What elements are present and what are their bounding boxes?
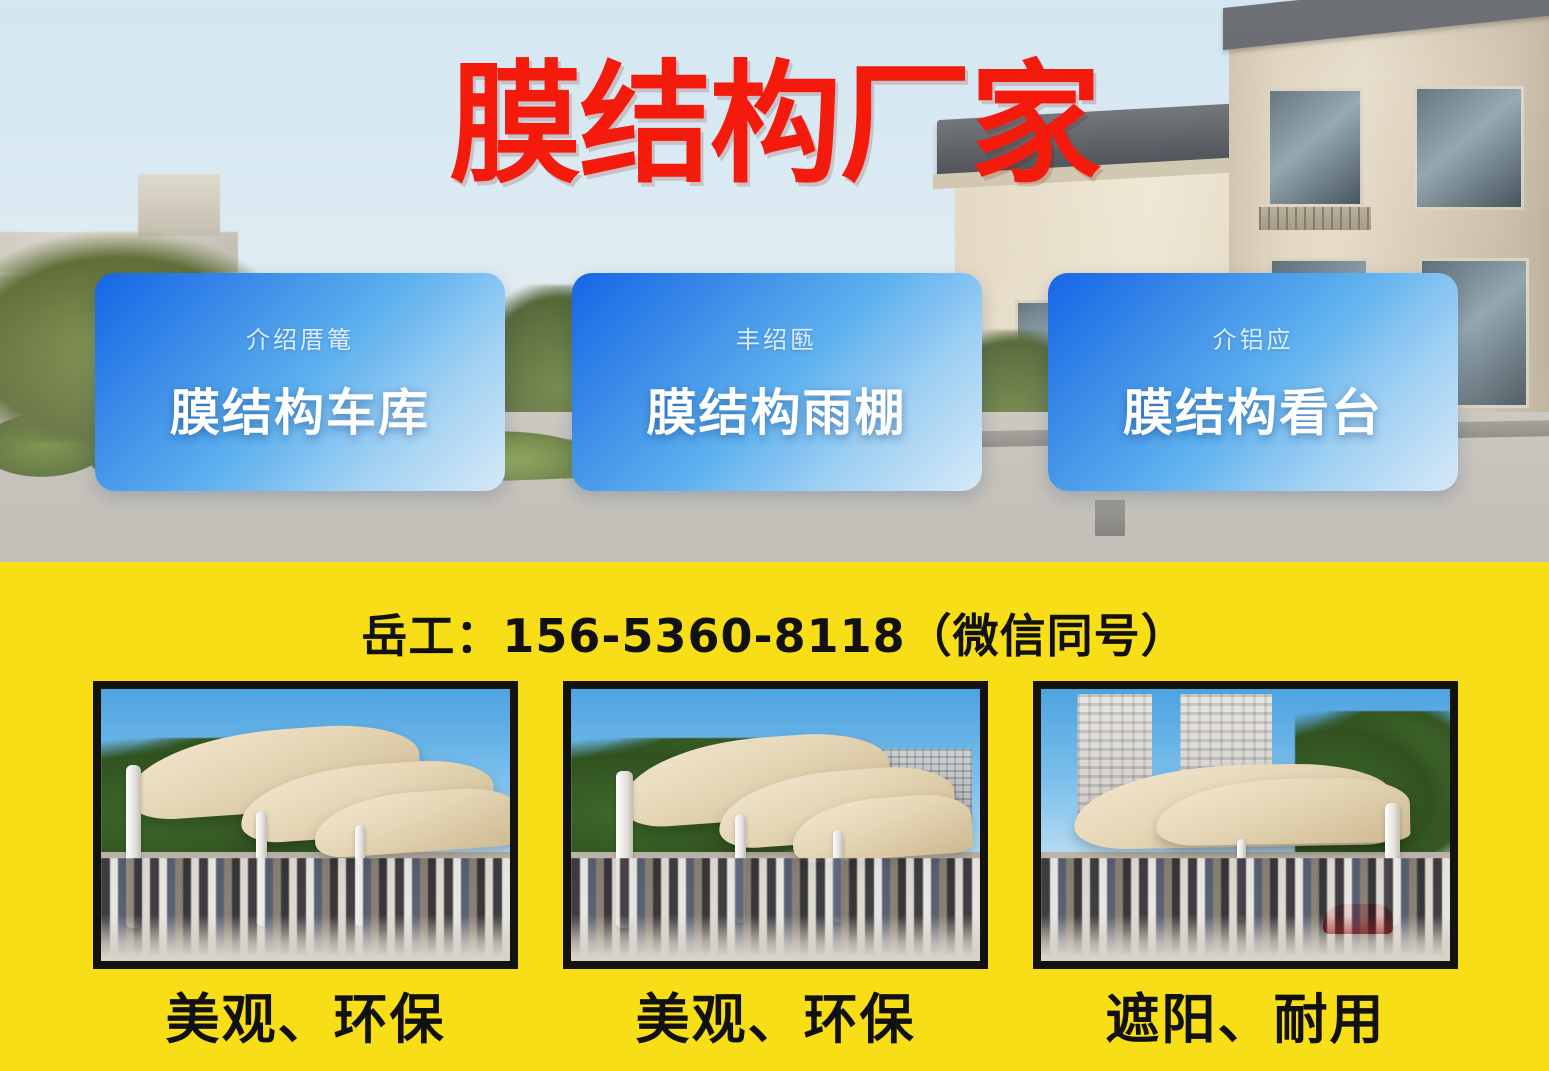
card-subtitle: 介铝应 <box>1213 320 1294 355</box>
poster-root: 膜结构厂家 介绍厝篭 膜结构车库 丰绍匦 膜结构雨棚 介铝应 膜结构看台 岳工：… <box>0 0 1549 1071</box>
trash-bin <box>1095 500 1125 536</box>
category-card-grandstand[interactable]: 介铝应 膜结构看台 <box>1048 273 1458 491</box>
category-card-list: 介绍厝篭 膜结构车库 丰绍匦 膜结构雨棚 介铝应 膜结构看台 <box>95 273 1458 491</box>
card-title: 膜结构雨棚 <box>647 373 907 445</box>
card-title: 膜结构车库 <box>170 373 430 445</box>
page-title: 膜结构厂家 <box>0 58 1549 193</box>
card-title: 膜结构看台 <box>1123 373 1383 445</box>
photo-crowd <box>571 858 980 956</box>
building-roofline <box>1223 0 1549 50</box>
contact-phone-line[interactable]: 岳工：156-5360-8118（微信同号） <box>0 600 1549 666</box>
category-card-canopy[interactable]: 丰绍匦 膜结构雨棚 <box>572 273 982 491</box>
building-balcony <box>1259 204 1371 230</box>
photo-caption-3: 遮阳、耐用 <box>1033 985 1458 1055</box>
project-photo-1[interactable] <box>93 681 518 969</box>
photo-crowd <box>1041 858 1450 956</box>
photo-scene <box>1041 689 1450 961</box>
photo-scene <box>571 689 980 961</box>
category-card-garage[interactable]: 介绍厝篭 膜结构车库 <box>95 273 505 491</box>
card-subtitle: 丰绍匦 <box>736 320 817 355</box>
project-photo-gallery <box>93 681 1458 969</box>
photo-scene <box>101 689 510 961</box>
project-photo-2[interactable] <box>563 681 988 969</box>
photo-crowd <box>101 858 510 956</box>
photo-caption-row: 美观、环保 美观、环保 遮阳、耐用 <box>93 985 1458 1055</box>
project-photo-3[interactable] <box>1033 681 1458 969</box>
photo-caption-2: 美观、环保 <box>563 985 988 1055</box>
photo-caption-1: 美观、环保 <box>93 985 518 1055</box>
card-subtitle: 介绍厝篭 <box>246 320 354 355</box>
